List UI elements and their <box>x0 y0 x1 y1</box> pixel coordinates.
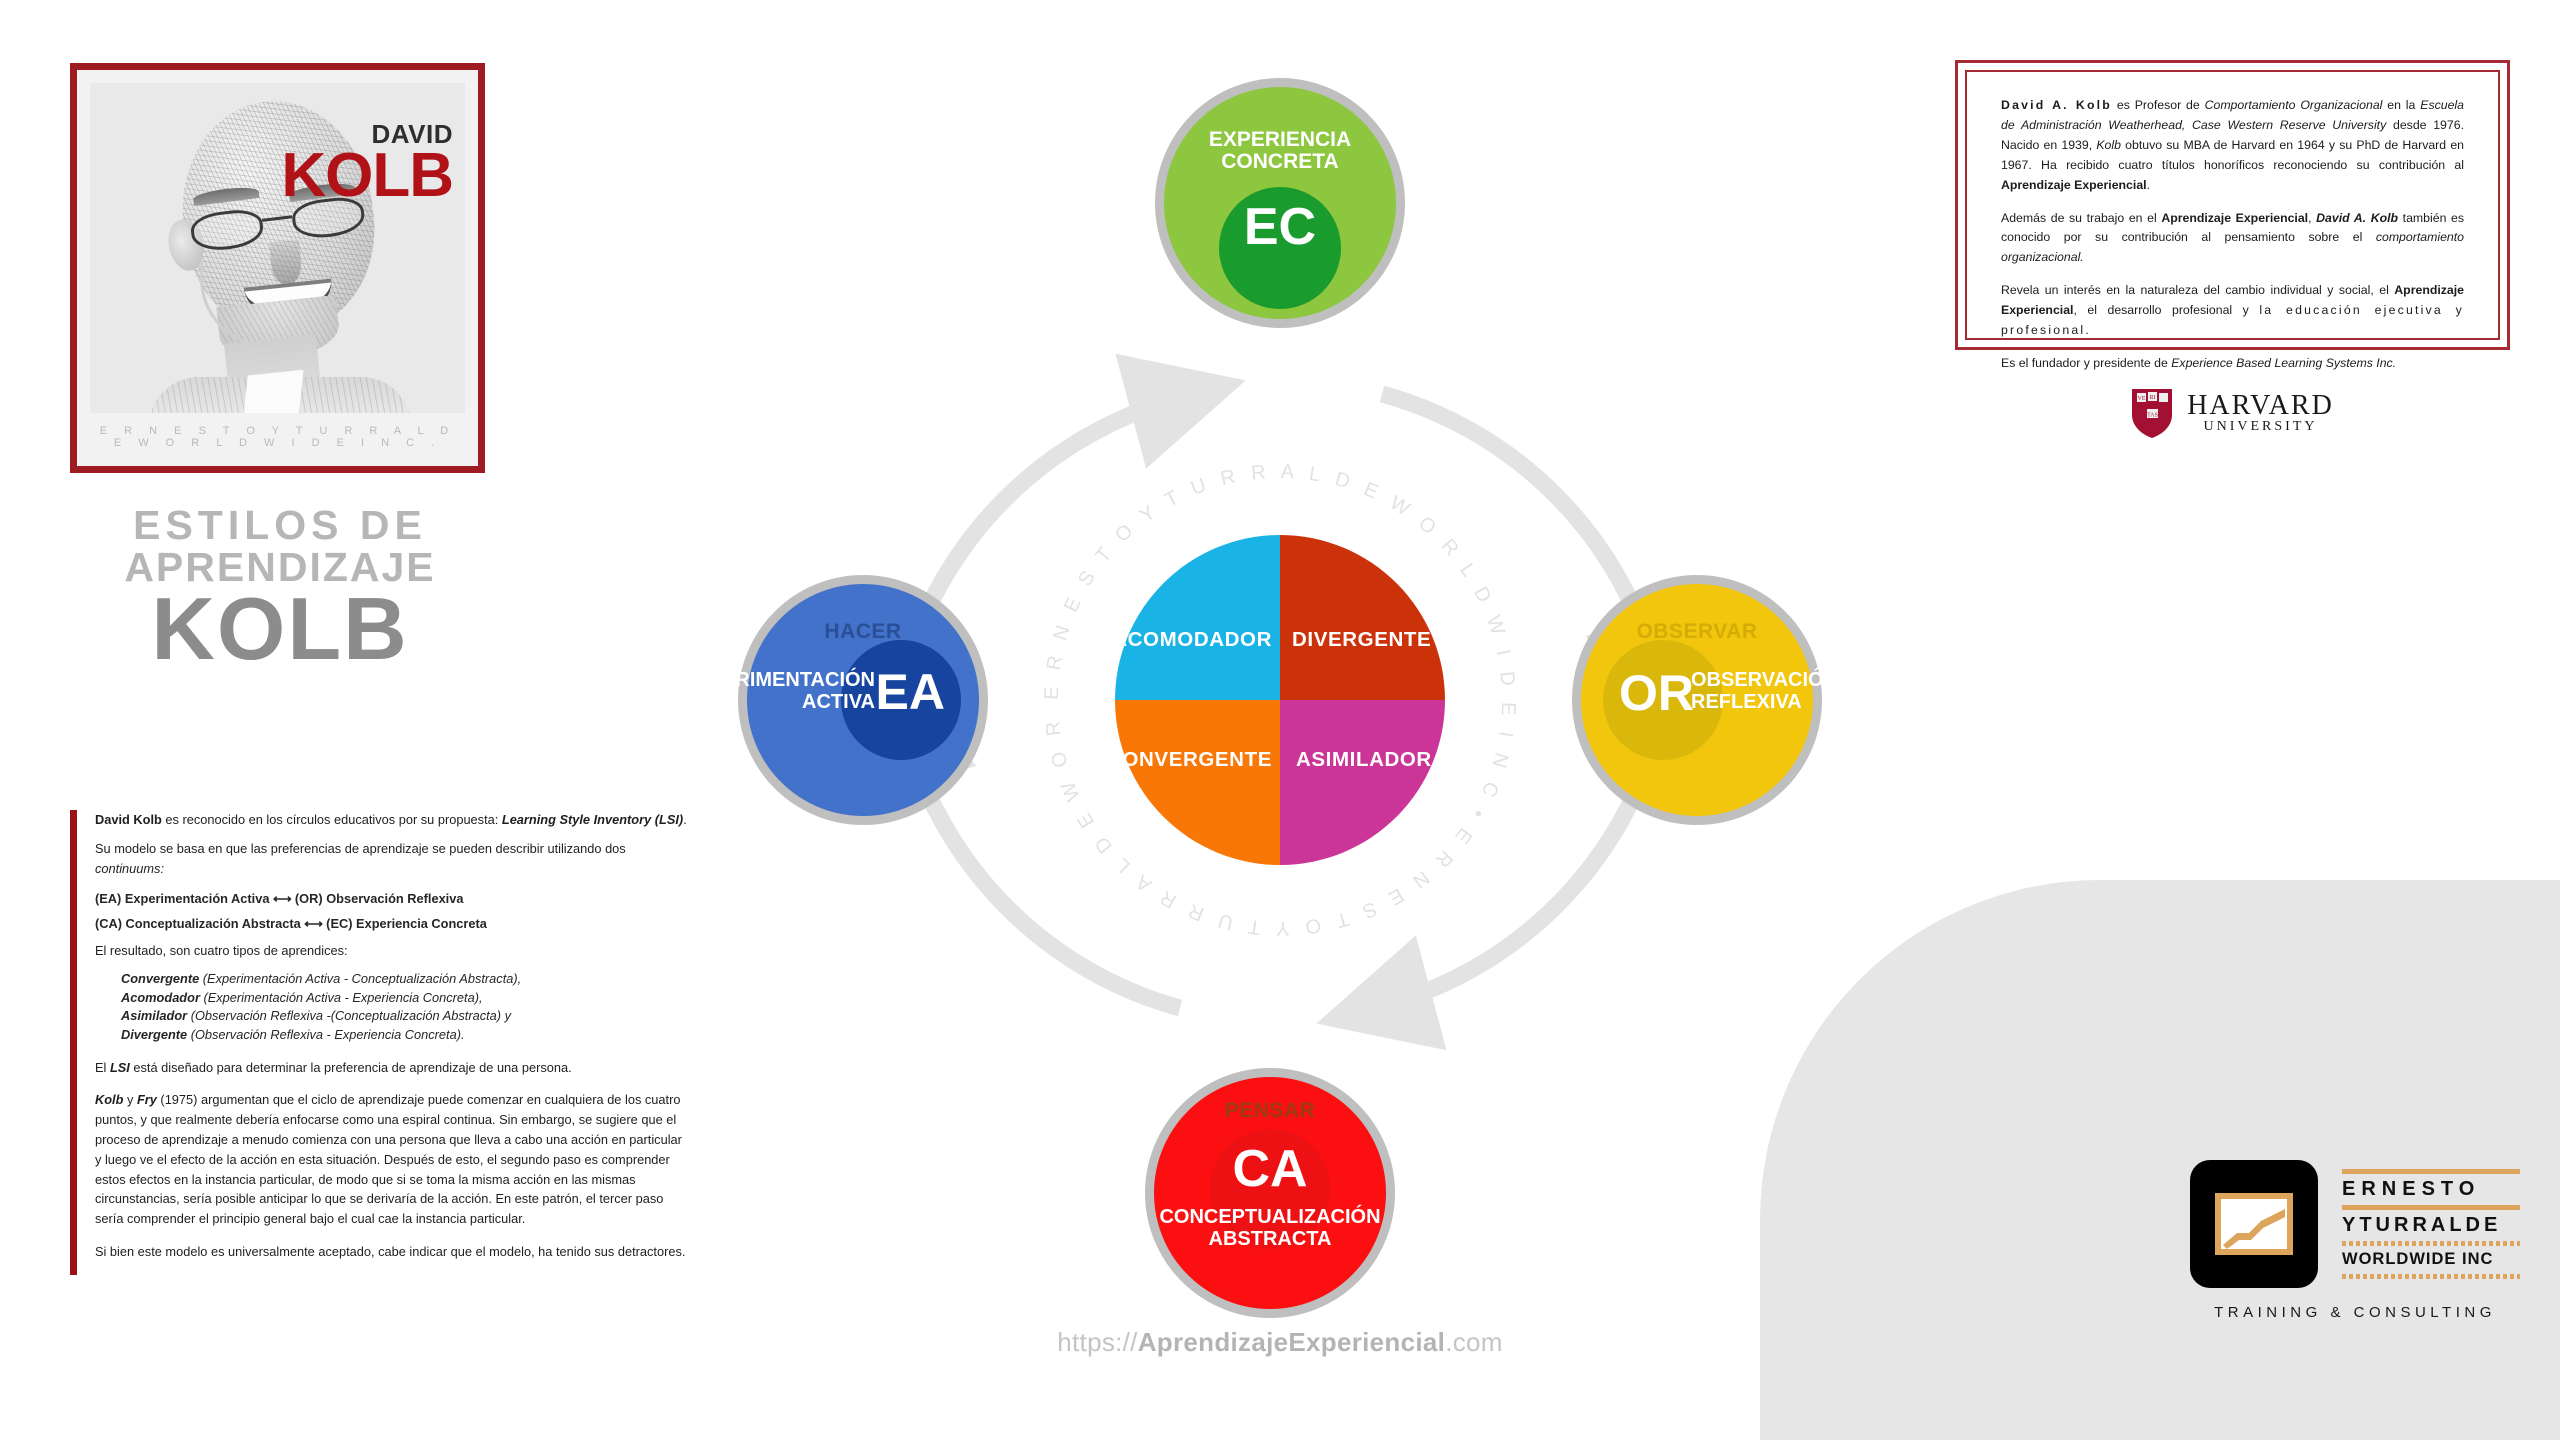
left-body-text: David Kolb es reconocido en los círculos… <box>70 810 690 1275</box>
title-line-1: ESTILOS DE <box>70 505 490 547</box>
node-lines: EXPERIENCIA CONCRETA <box>1164 129 1396 173</box>
logo-line-3: WORLDWIDE INC <box>2342 1251 2520 1268</box>
paragraph-model: Su modelo se basa en que las preferencia… <box>95 839 690 879</box>
type-detail: (Observación Reflexiva -(Conceptualizaci… <box>187 1008 511 1023</box>
node-abbr: EC <box>1164 201 1396 253</box>
logo-rule-mid1 <box>2342 1205 2520 1210</box>
paragraph-critique: Si bien este modelo es universalmente ac… <box>95 1242 690 1262</box>
type-name: Convergente <box>121 971 199 986</box>
quadrant-asimilador[interactable]: ASIMILADOR <box>1280 700 1445 865</box>
type-name: Acomodador <box>121 990 200 1005</box>
harvard-sub: UNIVERSITY <box>2187 420 2334 434</box>
url-suffix: .com <box>1445 1327 1503 1357</box>
type-detail: (Experimentación Activa - Conceptualizac… <box>199 971 521 986</box>
logo-line-2: YTURRALDE <box>2342 1215 2520 1236</box>
bio-t2: en la <box>2382 98 2420 112</box>
website-url[interactable]: https://AprendizajeExperiencial.com <box>660 1327 1900 1358</box>
bio-t5: . <box>2147 178 2150 192</box>
bio-i1: Comportamiento Organizacional <box>2205 98 2383 112</box>
svg-text:RI: RI <box>2150 395 2156 401</box>
type-detail: (Experimentación Activa - Experiencia Co… <box>200 990 483 1005</box>
paragraph-intro: David Kolb es reconocido en los círculos… <box>95 810 690 830</box>
list-item: Divergente (Observación Reflexiva - Expe… <box>121 1026 690 1045</box>
continuum-2: (CA) Conceptualización Abstracta ⟷ (EC) … <box>95 916 690 932</box>
portrait-caption: E R N E S T O Y T U R R A L D E W O R L … <box>90 425 465 449</box>
bio-b2: Aprendizaje Experiencial <box>2001 178 2147 192</box>
node-line-1: EXPERIMENTACIÓN <box>682 670 875 692</box>
logo-tagline: TRAINING & CONSULTING <box>2190 1304 2520 1321</box>
node-line-2: ACTIVA <box>682 692 875 714</box>
harvard-shield-icon: VE RI TAS <box>2131 387 2173 439</box>
bio-t1: es Profesor de <box>2112 98 2205 112</box>
url-main: AprendizajeExperiencial <box>1138 1327 1445 1357</box>
kolb-portrait: DAVID KOLB <box>90 83 465 413</box>
node-lines: OBSERVACIÓN REFLEXIVA <box>1691 670 1838 713</box>
type-name: Divergente <box>121 1027 187 1042</box>
model-text: Su modelo se basa en que las preferencia… <box>95 841 626 856</box>
lsi-c: está diseñado para determinar la prefere… <box>130 1060 572 1075</box>
bio-name: David A. Kolb <box>2001 98 2112 112</box>
bio4-t1: Es el fundador y presidente de <box>2001 356 2171 370</box>
logo-wordmark: ERNESTO YTURRALDE WORLDWIDE INC <box>2342 1164 2520 1283</box>
quadrant-label: DIVERGENTE <box>1292 628 1431 652</box>
bio2-t2: , <box>2308 211 2316 225</box>
paragraph-kolb-fry: Kolb y Fry (1975) argumentan que el cicl… <box>95 1090 690 1229</box>
lsi-a: El <box>95 1060 110 1075</box>
node-line-1: CONCEPTUALIZACIÓN <box>1154 1207 1386 1229</box>
quadrant-label: ACOMODADOR <box>1115 628 1272 652</box>
type-detail: (Observación Reflexiva - Experiencia Con… <box>187 1027 464 1042</box>
quadrant-label: ASIMILADOR <box>1296 748 1432 772</box>
node-experimentacion-activa[interactable]: HACER EA EXPERIMENTACIÓN ACTIVA <box>738 575 988 825</box>
node-line-1: EXPERIENCIA <box>1164 129 1396 151</box>
bio2-b1: Aprendizaje Experiencial <box>2161 211 2308 225</box>
paragraph-lsi: El LSI está diseñado para determinar la … <box>95 1058 690 1078</box>
bio2-t1: Además de su trabajo en el <box>2001 211 2161 225</box>
title-line-3: KOLB <box>70 585 490 673</box>
harvard-name: HARVARD <box>2187 392 2334 420</box>
node-abbr: EA <box>876 667 945 717</box>
node-abbr: OR <box>1619 668 1694 718</box>
bio-panel: David A. Kolb es Profesor de Comportamie… <box>1955 60 2510 350</box>
svg-text:VE: VE <box>2138 396 2146 402</box>
node-experiencia-concreta[interactable]: SENTIR EXPERIENCIA CONCRETA EC <box>1155 78 1405 328</box>
intro-rest: es reconocido en los círculos educativos… <box>162 812 502 827</box>
logo-mark-icon <box>2190 1160 2318 1288</box>
page-title: ESTILOS DE APRENDIZAJE KOLB <box>70 505 490 673</box>
quadrant-acomodador[interactable]: ACOMODADOR <box>1115 535 1280 700</box>
svg-text:TAS: TAS <box>2147 412 2158 418</box>
quadrant-convergente[interactable]: CONVERGENTE <box>1115 700 1280 865</box>
list-item: Asimilador (Observación Reflexiva -(Conc… <box>121 1007 690 1026</box>
bio2-i1: David A. Kolb <box>2316 211 2398 225</box>
portrait-name: DAVID KOLB <box>281 123 453 204</box>
list-item: Acomodador (Experimentación Activa - Exp… <box>121 989 690 1008</box>
bio3-t2: , el desarrollo profesional y <box>2073 303 2259 317</box>
node-line-2: REFLEXIVA <box>1691 692 1838 714</box>
bio4-i1: Experience Based Learning Systems Inc. <box>2171 356 2396 370</box>
continuum-1: (EA) Experimentación Activa ⟷ (OR) Obser… <box>95 891 690 907</box>
list-item: Convergente (Experimentación Activa - Co… <box>121 970 690 989</box>
harvard-logo: VE RI TAS HARVARD UNIVERSITY <box>2001 387 2464 439</box>
kolbfry-c: Fry <box>137 1092 157 1107</box>
intro-lsi: Learning Style Inventory (LSI) <box>502 812 683 827</box>
intro-bold-name: David Kolb <box>95 812 162 827</box>
portrait-last-name: KOLB <box>281 147 453 204</box>
node-verb: PENSAR <box>1154 1099 1386 1123</box>
node-abbr: CA <box>1154 1143 1386 1195</box>
bio3-t1: Revela un interés en la naturaleza del c… <box>2001 283 2394 297</box>
node-lines: CONCEPTUALIZACIÓN ABSTRACTA <box>1154 1207 1386 1250</box>
quadrant-label: CONVERGENTE <box>1115 748 1272 772</box>
node-line-1: OBSERVACIÓN <box>1691 670 1838 692</box>
bio-paragraph-1: David A. Kolb es Profesor de Comportamie… <box>2001 96 2464 196</box>
quadrant-divergente[interactable]: DIVERGENTE <box>1280 535 1445 700</box>
lsi-b: LSI <box>110 1060 130 1075</box>
node-line-2: ABSTRACTA <box>1154 1229 1386 1251</box>
kolb-photo-card: DAVID KOLB E R N E S T O Y T U R R A L D… <box>70 63 485 473</box>
company-logo: ERNESTO YTURRALDE WORLDWIDE INC TRAINING… <box>2190 1160 2520 1321</box>
logo-rule-top <box>2342 1169 2520 1174</box>
bio-i3: Kolb <box>2096 138 2121 152</box>
model-italic: continuums: <box>95 861 164 876</box>
kolb-cycle-diagram: E R N E S T O Y T U R R A L D E W O R L … <box>660 70 1900 1330</box>
kolbfry-a: Kolb <box>95 1092 123 1107</box>
logo-line-1: ERNESTO <box>2342 1179 2520 1200</box>
bio-paragraph-3: Revela un interés en la naturaleza del c… <box>2001 281 2464 341</box>
node-verb: HACER <box>747 620 979 644</box>
logo-rule-bottom <box>2342 1274 2520 1279</box>
url-prefix: https:// <box>1057 1327 1137 1357</box>
paragraph-result: El resultado, son cuatro tipos de aprend… <box>95 941 690 961</box>
node-lines: EXPERIMENTACIÓN ACTIVA <box>682 670 875 713</box>
node-line-2: CONCRETA <box>1164 151 1396 173</box>
kolbfry-b: y <box>123 1092 137 1107</box>
kolbfry-d: (1975) argumentan que el ciclo de aprend… <box>95 1092 682 1226</box>
logo-rule-mid2 <box>2342 1241 2520 1246</box>
learning-style-wheel: ACOMODADOR DIVERGENTE CONVERGENTE ASIMIL… <box>1115 535 1445 865</box>
node-conceptualizacion-abstracta[interactable]: PENSAR CA CONCEPTUALIZACIÓN ABSTRACTA <box>1145 1068 1395 1318</box>
bio-paragraph-2: Además de su trabajo en el Aprendizaje E… <box>2001 209 2464 269</box>
type-name: Asimilador <box>121 1008 187 1023</box>
learner-types-list: Convergente (Experimentación Activa - Co… <box>121 970 690 1044</box>
chart-growth-icon <box>2215 1193 2293 1255</box>
node-observacion-reflexiva[interactable]: OBSERVAR OR OBSERVACIÓN REFLEXIVA <box>1572 575 1822 825</box>
bio-paragraph-4: Es el fundador y presidente de Experienc… <box>2001 354 2464 374</box>
node-verb: OBSERVAR <box>1581 620 1813 644</box>
